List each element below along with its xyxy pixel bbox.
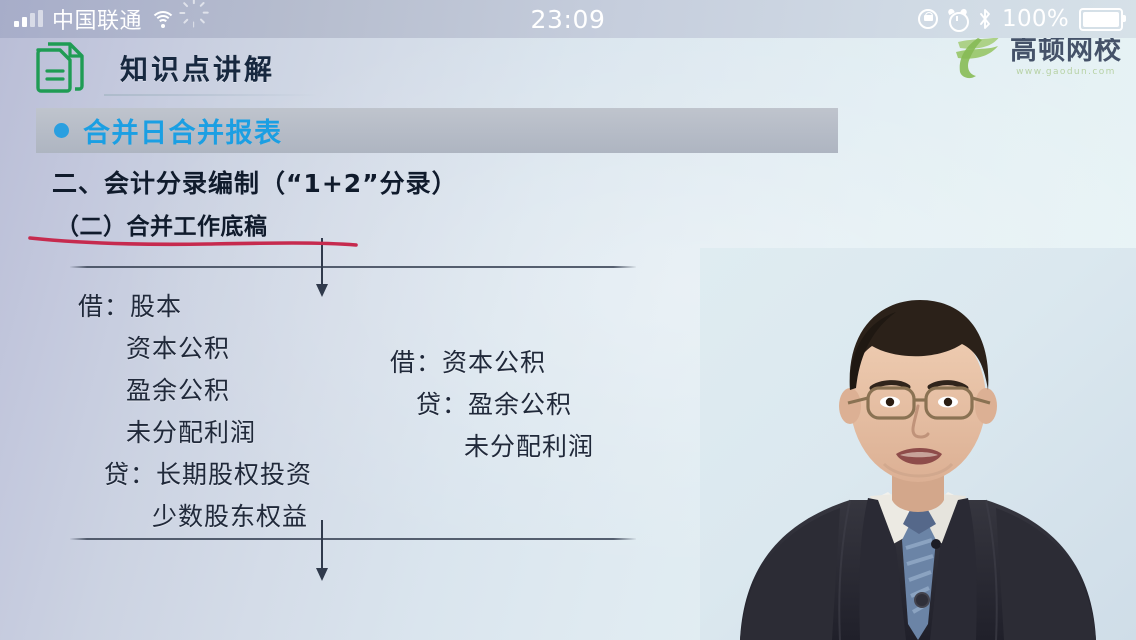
spinner-icon xyxy=(184,10,203,29)
arrow-head xyxy=(316,284,328,297)
journal-entry-line: 资本公积 xyxy=(78,328,312,370)
journal-entry-line: 借：资本公积 xyxy=(390,342,594,384)
journal-entry-line: 未分配利润 xyxy=(78,412,312,454)
instructor-video-overlay xyxy=(700,248,1136,640)
section-banner: 合并日合并报表 xyxy=(36,108,838,153)
red-underline-annotation xyxy=(28,232,358,250)
page-title: 知识点讲解 xyxy=(120,48,275,88)
carrier-name: 中国联通 xyxy=(52,3,142,35)
arrow-head xyxy=(316,568,328,581)
brand-logo: 高顿网校 www.gaodun.com xyxy=(948,34,1122,80)
bullet-icon xyxy=(54,123,69,138)
document-icon xyxy=(32,40,90,96)
battery-icon xyxy=(1079,8,1123,31)
alarm-clock-icon xyxy=(948,9,968,29)
brand-subtext: www.gaodun.com xyxy=(1010,67,1122,77)
status-bar-right: 100% xyxy=(918,6,1136,32)
leaf-logo-icon xyxy=(948,34,1006,80)
header-divider xyxy=(104,94,316,96)
diagram-bottom-rule xyxy=(70,538,636,540)
diagram-top-rule xyxy=(70,266,636,268)
brand-text-block: 高顿网校 www.gaodun.com xyxy=(1010,37,1122,77)
rotation-lock-icon xyxy=(918,9,938,29)
bluetooth-icon xyxy=(978,8,992,30)
arrow-shaft xyxy=(321,520,323,570)
section-banner-label: 合并日合并报表 xyxy=(83,111,283,150)
slide-header: 知识点讲解 xyxy=(32,40,275,96)
journal-entry-line: 贷：长期股权投资 xyxy=(78,454,312,496)
video-lecture-screen: 知识点讲解 合并日合并报表 二、会计分录编制（“1+2”分录） （二）合并工作底… xyxy=(0,0,1136,640)
battery-percent-label: 100% xyxy=(1002,6,1069,32)
journal-entry-line: 贷：盈余公积 xyxy=(390,384,594,426)
status-bar-left: 中国联通 xyxy=(0,3,203,35)
journal-entry-line: 少数股东权益 xyxy=(78,496,312,538)
journal-entry-line: 借：股本 xyxy=(78,286,312,328)
journal-entry-left: 借：股本 资本公积 盈余公积 未分配利润 贷：长期股权投资 少数股东权益 xyxy=(78,286,312,538)
journal-entry-line: 盈余公积 xyxy=(78,370,312,412)
journal-entry-line: 未分配利润 xyxy=(390,426,594,468)
ios-status-bar: 中国联通 23:09 xyxy=(0,0,1136,38)
brand-name: 高顿网校 xyxy=(1010,37,1122,65)
heading-level-1: 二、会计分录编制（“1+2”分录） xyxy=(52,164,458,200)
journal-entry-right: 借：资本公积 贷：盈余公积 未分配利润 xyxy=(390,342,594,468)
wifi-icon xyxy=(151,10,175,28)
signal-bars-icon xyxy=(14,11,43,27)
